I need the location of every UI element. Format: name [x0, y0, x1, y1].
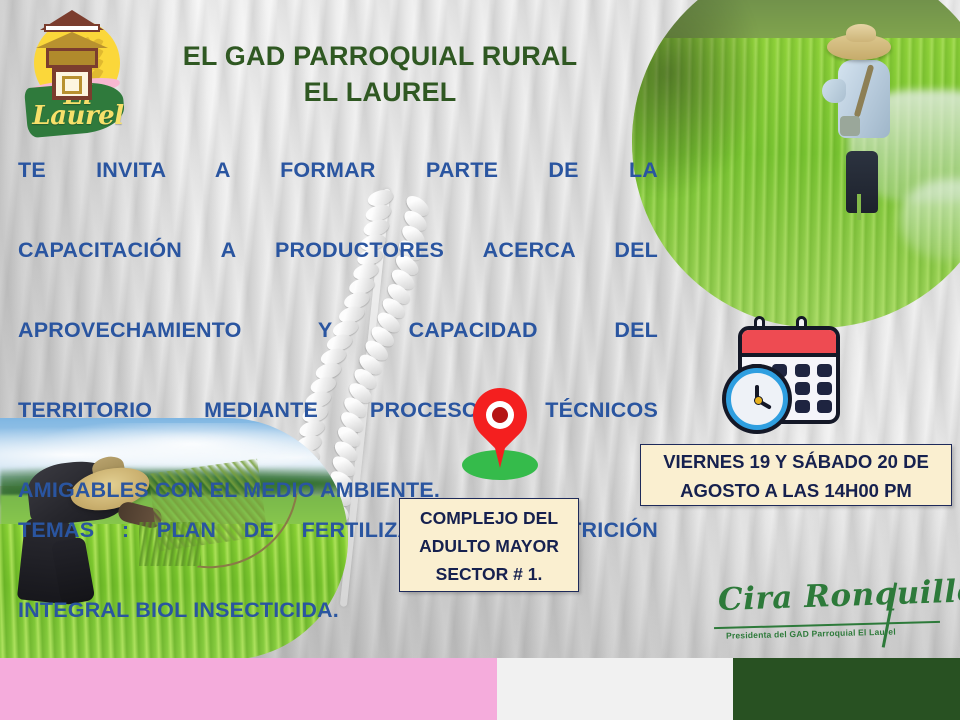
kiosk-window — [62, 76, 82, 94]
location-box: COMPLEJO DEL ADULTO MAYOR SECTOR # 1. — [399, 498, 579, 592]
footer-bar-white — [497, 658, 733, 720]
location-line-2: ADULTO MAYOR — [400, 532, 578, 560]
location-line-1: COMPLEJO DEL — [400, 504, 578, 532]
farmer-arm — [822, 79, 846, 103]
footer-bar-pink — [0, 658, 497, 720]
calendar-date-cell — [795, 364, 810, 377]
body-line-7: INTEGRAL BIOL INSECTICIDA. — [18, 590, 658, 630]
clock-pivot — [754, 396, 763, 405]
kiosk-roof-band — [44, 24, 100, 32]
map-pin-center-dot — [492, 407, 508, 423]
farmer-standing-photo — [632, 0, 960, 328]
calendar-date-cell — [795, 400, 810, 413]
date-line-2: AGOSTO A LAS 14H00 PM — [641, 476, 951, 505]
calendar-date-cell — [817, 364, 832, 377]
kiosk-roof-lower — [36, 32, 108, 48]
farmer-bag — [840, 116, 860, 136]
kiosk-body — [46, 48, 98, 68]
body-line-4: TERRITORIO MEDIANTE PROCESOS TÉCNICOS — [18, 390, 658, 470]
footer-bar-green — [733, 658, 960, 720]
calendar-date-cell — [817, 382, 832, 395]
title-line-1: EL GAD PARROQUIAL RURAL — [140, 38, 620, 74]
clock-icon — [726, 368, 788, 430]
gad-el-laurel-logo: El Laurel — [16, 6, 134, 134]
poster-title: EL GAD PARROQUIAL RURAL EL LAUREL — [140, 38, 620, 110]
body-line-3: APROVECHAMIENTO Y CAPACIDAD DEL — [18, 310, 658, 390]
location-line-3: SECTOR # 1. — [400, 560, 578, 588]
map-pin-icon — [455, 388, 545, 488]
body-line-2: CAPACITACIÓN A PRODUCTORES ACERCA DEL — [18, 230, 658, 310]
farmer-hat-crown — [846, 24, 876, 42]
calendar-date-cell — [795, 382, 810, 395]
body-line-1: TE INVITA A FORMAR PARTE DE LA — [18, 150, 658, 230]
title-line-2: EL LAUREL — [140, 74, 620, 110]
gazebo-kiosk-icon — [36, 10, 108, 100]
signature-block: Cira Ronquillo Presidenta del GAD Parroq… — [712, 578, 952, 656]
calendar-header — [742, 330, 836, 357]
calendar-date-cell — [817, 400, 832, 413]
signature-name: Cira Ronquillo — [717, 574, 954, 618]
date-line-1: VIERNES 19 Y SÁBADO 20 DE — [641, 447, 951, 476]
farmer-leg-gap — [857, 194, 861, 220]
farmer-legs — [846, 151, 878, 213]
event-poster: El Laurel EL GAD PARROQUIAL RURAL EL LAU… — [0, 0, 960, 720]
date-time-box: VIERNES 19 Y SÁBADO 20 DE AGOSTO A LAS 1… — [640, 444, 952, 506]
calendar-clock-icon — [726, 316, 850, 434]
